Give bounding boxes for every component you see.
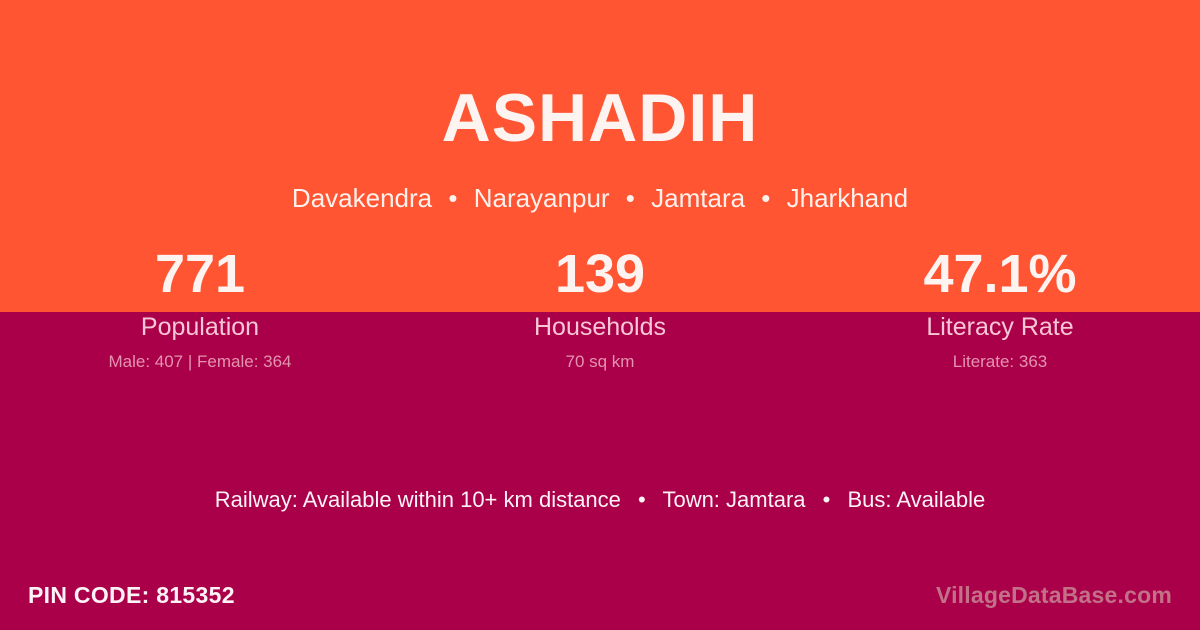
infrastructure-separator: • <box>627 486 657 514</box>
infrastructure-line: Railway: Available within 10+ km distanc… <box>0 486 1200 514</box>
infrastructure-item-bus: Bus: Available <box>847 487 985 512</box>
stat-value: 47.1% <box>800 243 1200 305</box>
stat-households: 139 Households 70 sq km <box>400 243 800 372</box>
stat-population: 771 Population Male: 407 | Female: 364 <box>0 243 400 372</box>
breadcrumb-separator: • <box>617 182 644 215</box>
stats-row: 771 Population Male: 407 | Female: 364 1… <box>0 243 1200 372</box>
page-title: ASHADIH <box>0 84 1200 152</box>
pin-code: PIN CODE: 815352 <box>28 581 235 609</box>
infrastructure-item-railway: Railway: Available within 10+ km distanc… <box>215 487 621 512</box>
stat-literacy-rate: 47.1% Literacy Rate Literate: 363 <box>800 243 1200 372</box>
stat-label: Households <box>400 313 800 341</box>
site-watermark: VillageDataBase.com <box>936 581 1172 609</box>
village-info-card: ASHADIH Davakendra • Narayanpur • Jamtar… <box>0 0 1200 630</box>
stat-sub: Literate: 363 <box>800 352 1200 372</box>
infrastructure-separator: • <box>812 486 842 514</box>
infrastructure-item-town: Town: Jamtara <box>662 487 805 512</box>
breadcrumb-item-block: Davakendra <box>292 183 432 213</box>
stat-value: 771 <box>0 243 400 305</box>
stat-sub: Male: 407 | Female: 364 <box>0 352 400 372</box>
stat-value: 139 <box>400 243 800 305</box>
breadcrumb: Davakendra • Narayanpur • Jamtara • Jhar… <box>0 182 1200 215</box>
stat-sub: 70 sq km <box>400 352 800 372</box>
breadcrumb-item-district: Jamtara <box>651 183 745 213</box>
breadcrumb-separator: • <box>752 182 779 215</box>
stat-label: Population <box>0 313 400 341</box>
stat-label: Literacy Rate <box>800 313 1200 341</box>
breadcrumb-item-state: Jharkhand <box>787 183 908 213</box>
footer: PIN CODE: 815352 VillageDataBase.com <box>0 573 1200 617</box>
breadcrumb-separator: • <box>439 182 466 215</box>
breadcrumb-item-subdistrict: Narayanpur <box>474 183 610 213</box>
